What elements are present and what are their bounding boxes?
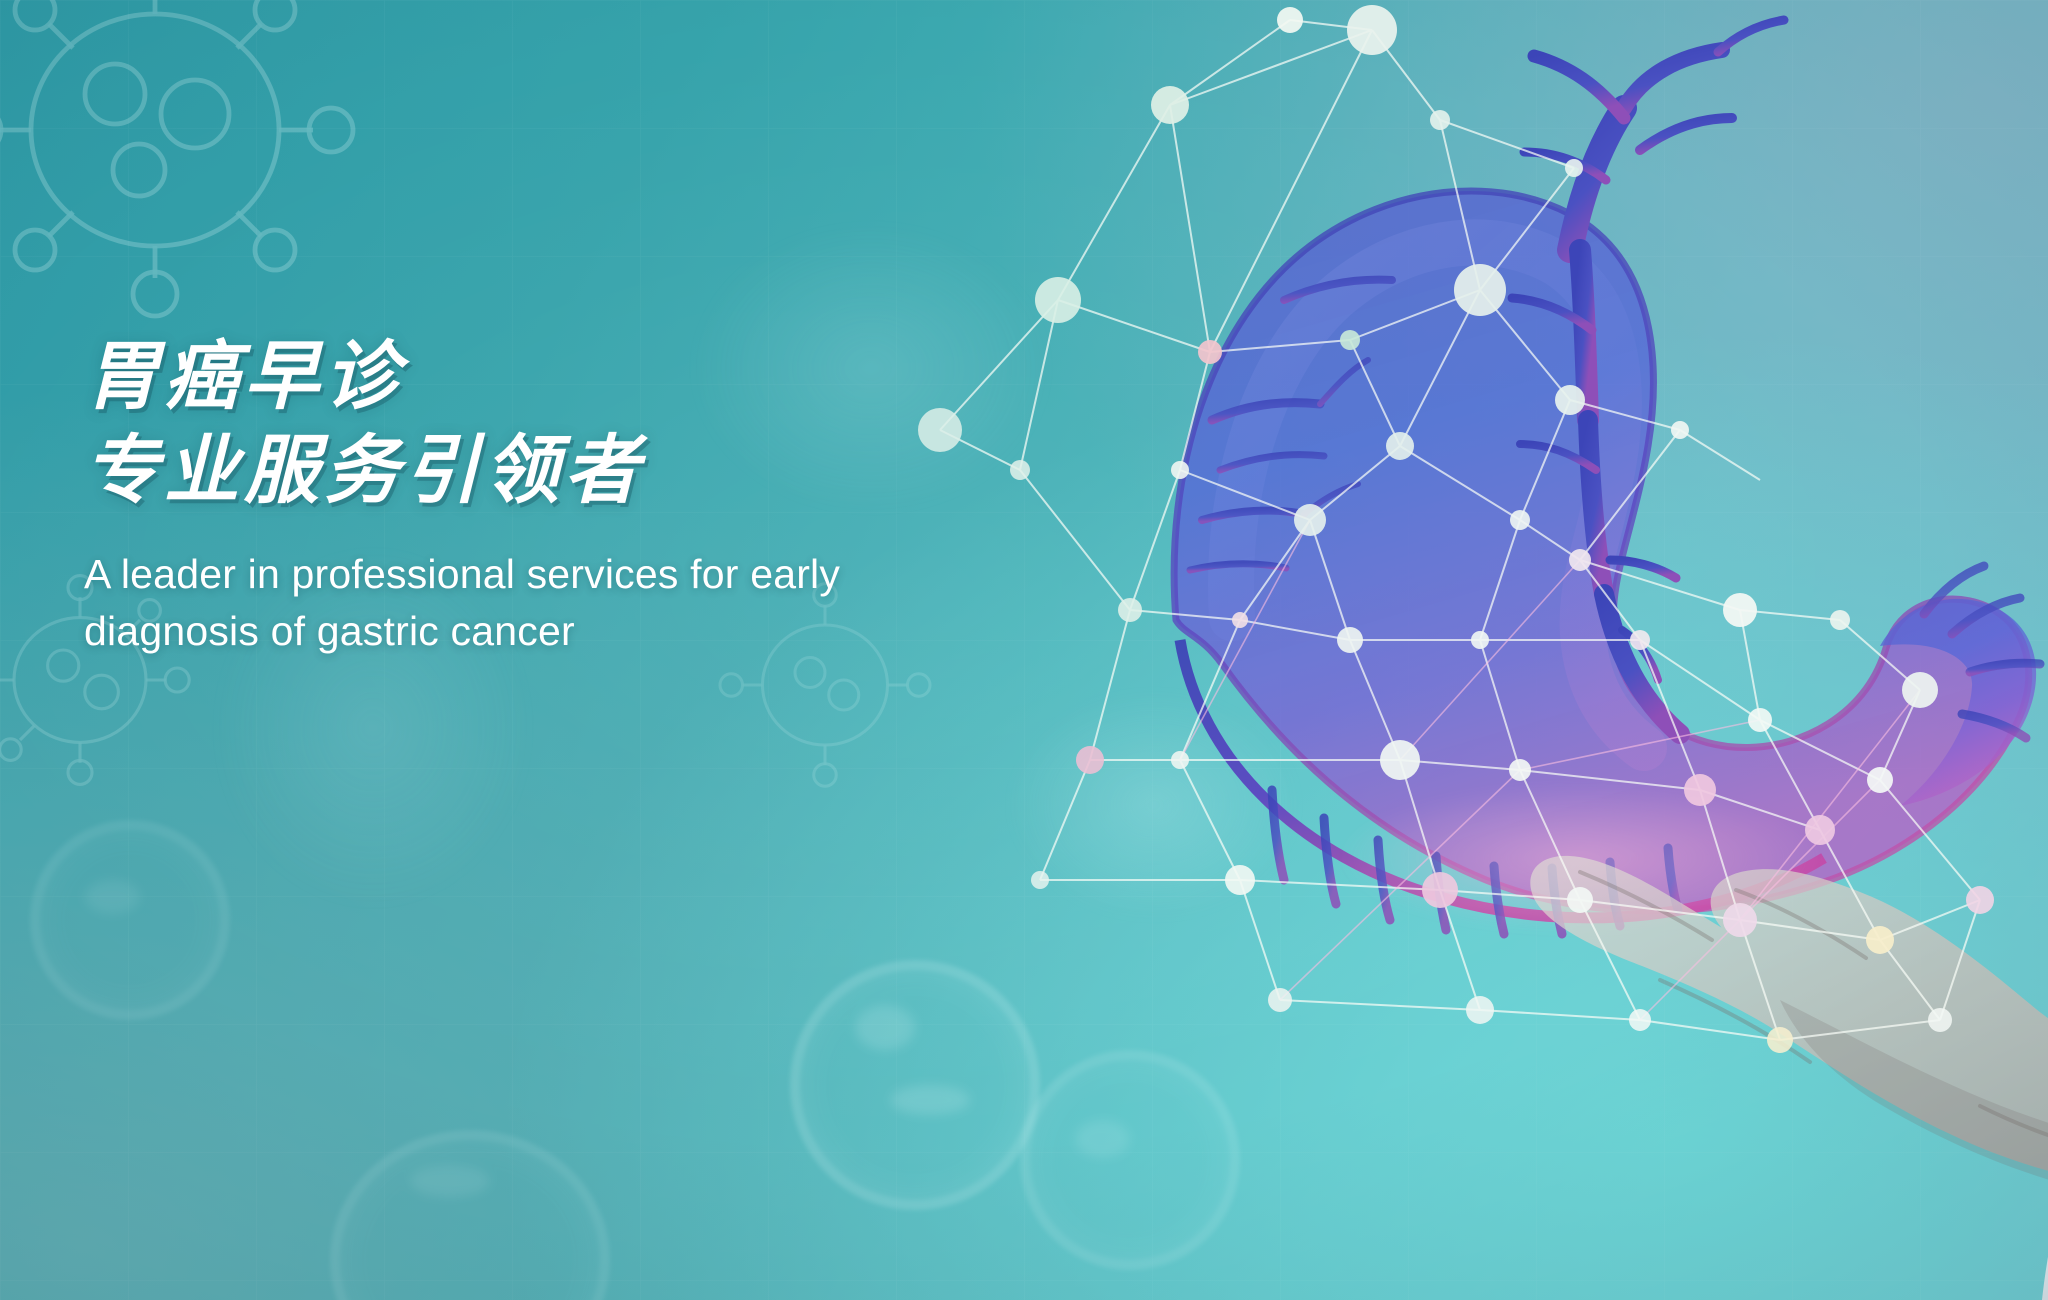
subtitle-line-2: diagnosis of gastric cancer	[84, 603, 984, 660]
headline-line-2: 专业服务引领者	[84, 424, 984, 516]
banner-text-block: 胃癌早诊 专业服务引领者 A leader in professional se…	[84, 330, 984, 660]
subtitle-line-1: A leader in professional services for ea…	[84, 546, 984, 603]
hero-illustration	[880, 0, 2048, 1300]
banner-canvas: 胃癌早诊 专业服务引领者 A leader in professional se…	[0, 0, 2048, 1300]
open-hand-illustration	[1530, 856, 2048, 1300]
stomach-hand-network-graphic	[880, 0, 2048, 1300]
headline-line-1: 胃癌早诊	[84, 330, 984, 422]
